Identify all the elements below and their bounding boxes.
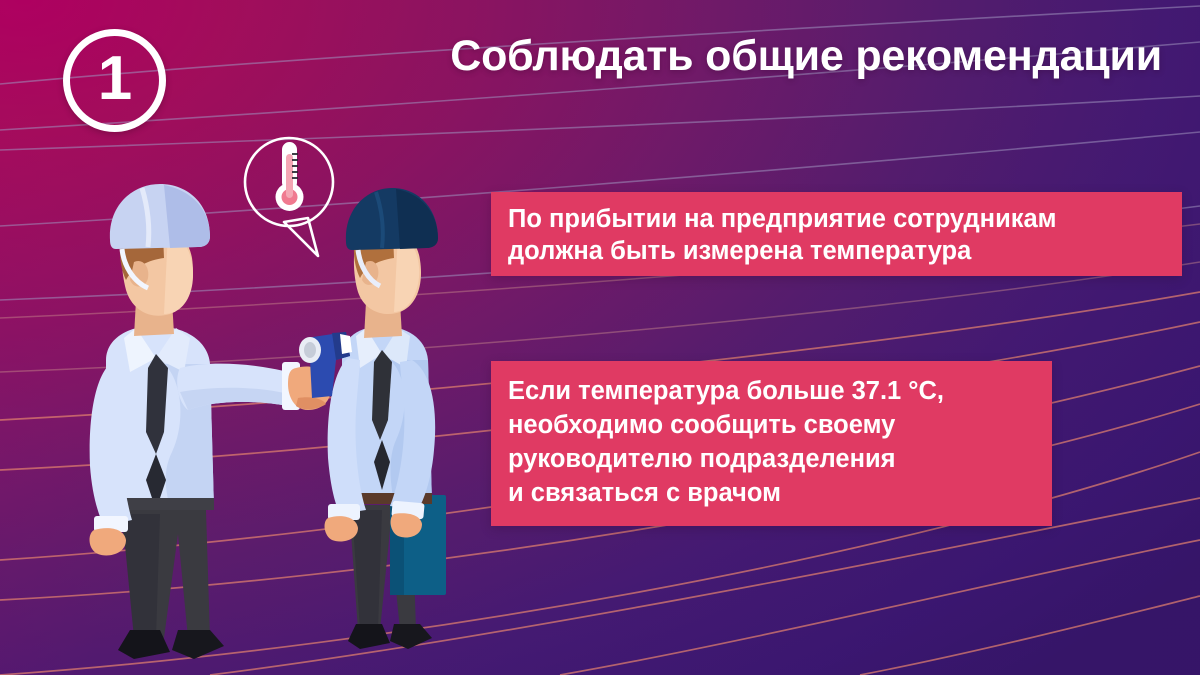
callout-1-line-1: По прибытии на предприятие сотрудникам (508, 203, 1164, 235)
illustration-two-workers (60, 110, 480, 675)
page-title: Соблюдать общие рекомендации (392, 32, 1162, 81)
figure-worker-being-measured (325, 188, 446, 649)
callout-box-temperature-on-arrival: По прибытии на предприятие сотрудникам д… (491, 192, 1182, 276)
thermometer-icon (276, 142, 304, 211)
callout-2-line-2: необходимо сообщить своему (508, 408, 1034, 442)
figure-worker-measuring (89, 184, 352, 659)
slide-root: 1 Соблюдать общие рекомендации (0, 0, 1200, 675)
callout-2-line-3: руководителю подразделения (508, 442, 1034, 476)
step-number-label: 1 (98, 48, 131, 110)
callout-box-report-high-temperature: Если температура больше 37.1 °C, необход… (491, 361, 1052, 526)
callout-2-line-4: и связаться с врачом (508, 476, 1034, 510)
callout-2-line-1: Если температура больше 37.1 °C, (508, 374, 1034, 408)
callout-1-line-2: должна быть измерена температура (508, 235, 1164, 267)
speech-bubble-thermometer (245, 138, 333, 256)
